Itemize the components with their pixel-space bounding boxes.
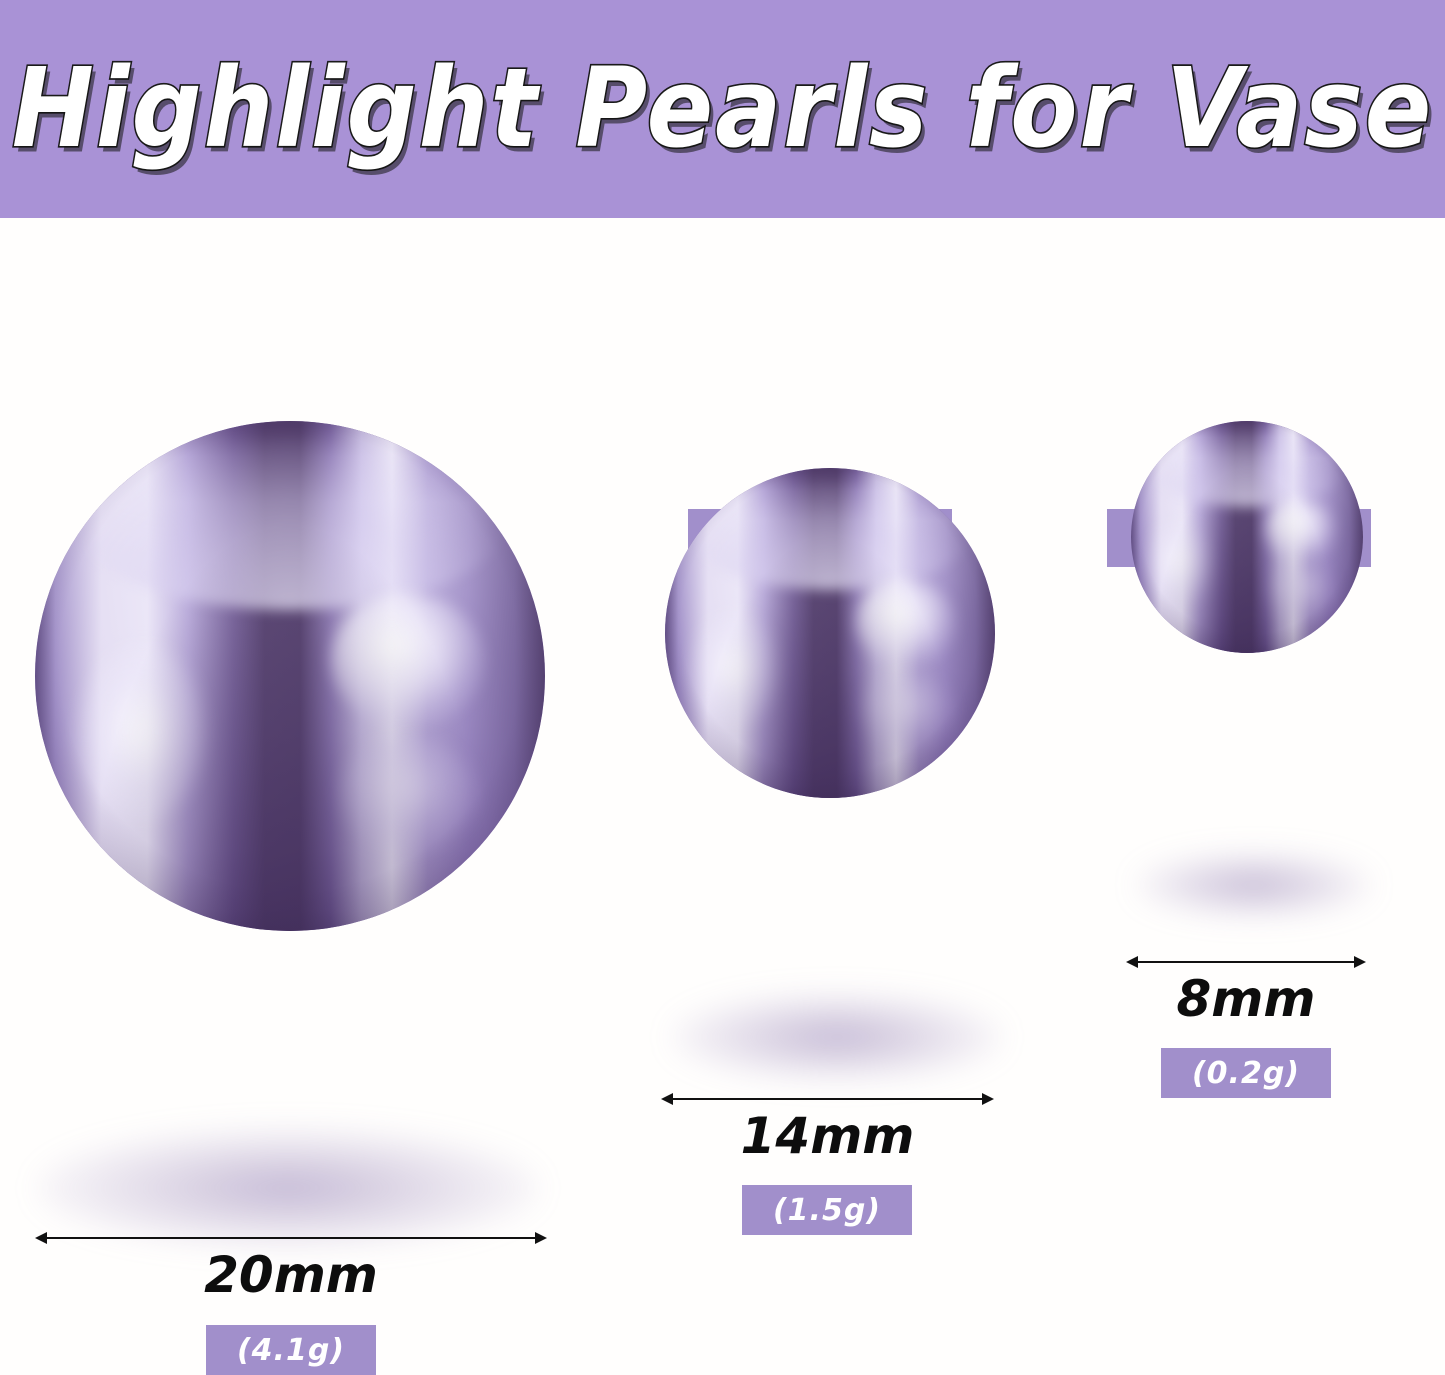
weight-badge-20mm: (4.1g) [206, 1325, 376, 1375]
pearl-rim-shade [1131, 421, 1363, 653]
product-comparison-stage: 20 PCS 20mm (4.1g) 50 PCS [0, 218, 1445, 1174]
pearl-shadow-8mm [1136, 853, 1372, 917]
dimension-arrow-8mm [1126, 954, 1366, 970]
size-label-20mm: 20mm [35, 1246, 547, 1304]
size-label-14mm: 14mm [661, 1107, 994, 1165]
weight-badge-14mm: (1.5g) [742, 1185, 912, 1235]
pearl-rim-shade [665, 468, 995, 798]
pearl-image-20mm [35, 421, 545, 931]
dimension-arrow-20mm [35, 1230, 547, 1246]
arrow-right-head-icon [535, 1232, 547, 1244]
pearl-sphere-8mm [1131, 421, 1363, 653]
header-banner: Highlight Pearls for Vase [0, 0, 1445, 218]
arrow-bar [670, 1098, 985, 1100]
pearl-image-14mm [665, 468, 995, 798]
size-label-8mm: 8mm [1126, 970, 1366, 1028]
pearl-rim-shade [35, 421, 545, 931]
pearl-sphere-20mm [35, 421, 545, 931]
dimension-arrow-14mm [661, 1091, 994, 1107]
pearl-shadow-14mm [672, 993, 1002, 1081]
page-title: Highlight Pearls for Vase [0, 0, 1445, 231]
arrow-bar [1135, 961, 1357, 963]
pearl-sphere-14mm [665, 468, 995, 798]
arrow-right-head-icon [1354, 956, 1366, 968]
pearl-image-8mm [1131, 421, 1363, 653]
weight-badge-8mm: (0.2g) [1161, 1048, 1331, 1098]
arrow-bar [44, 1237, 538, 1239]
arrow-right-head-icon [982, 1093, 994, 1105]
